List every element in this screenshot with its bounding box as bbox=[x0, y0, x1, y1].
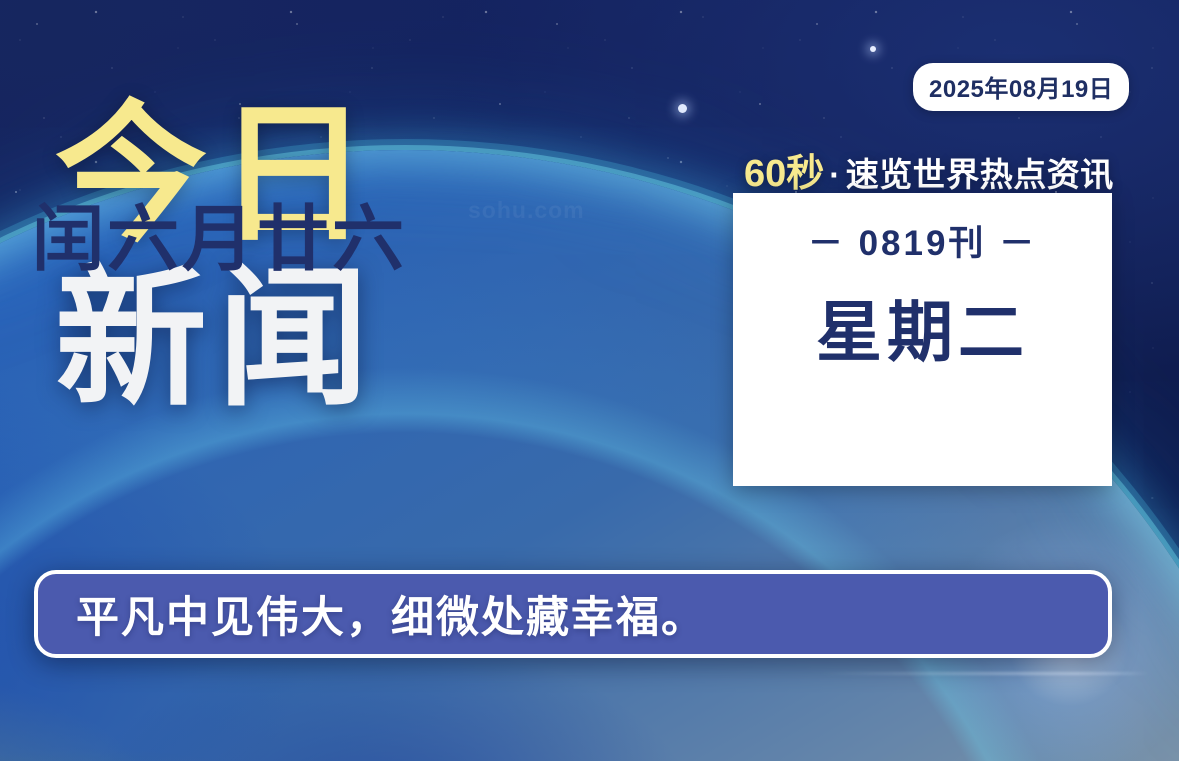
lunar-date-label: 闰六月廿六 bbox=[32, 180, 407, 285]
issue-number: － 0819刊 － bbox=[733, 215, 1112, 266]
title-line-news: 新闻 bbox=[55, 264, 379, 414]
news-poster: sohu.com 今日 新闻 2025年08月19日 60秒·速览世界热点资讯 … bbox=[0, 0, 1179, 761]
weekday-label: 星期二 bbox=[733, 279, 1112, 375]
date-badge: 2025年08月19日 bbox=[913, 63, 1129, 111]
watermark-text: sohu.com bbox=[468, 197, 580, 224]
quote-banner: 平凡中见伟大，细微处藏幸福。 bbox=[34, 570, 1112, 658]
tagline-description: 速览世界热点资讯 bbox=[846, 156, 1114, 193]
tagline-separator: · bbox=[829, 156, 841, 193]
issue-info-card: － 0819刊 － 星期二 bbox=[733, 193, 1112, 486]
tagline-seconds: 60秒 bbox=[744, 153, 824, 195]
quote-text: 平凡中见伟大，细微处藏幸福。 bbox=[38, 583, 706, 645]
tagline: 60秒·速览世界热点资讯 bbox=[744, 142, 1114, 197]
lens-flare-streak bbox=[819, 672, 1149, 675]
